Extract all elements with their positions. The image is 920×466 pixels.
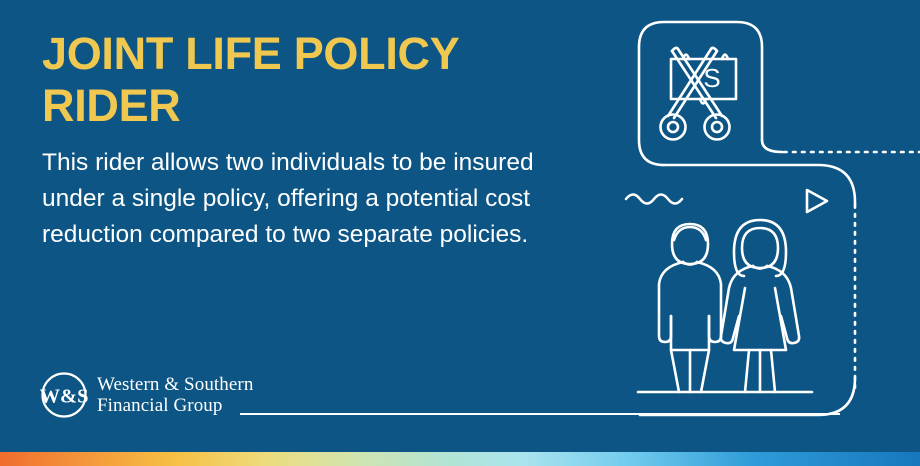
bubble-outline-bottom bbox=[664, 165, 855, 205]
bottom-rail bbox=[640, 378, 855, 415]
female-dress bbox=[734, 288, 786, 350]
bubble-outline-right bbox=[762, 140, 782, 152]
infographic-card: Joint Life Policy Rider This rider allow… bbox=[0, 0, 920, 466]
brand-logo: W&S Western & Southern Financial Group bbox=[40, 371, 253, 419]
male-hair bbox=[674, 227, 706, 240]
female-neck bbox=[753, 266, 767, 269]
female-head bbox=[742, 228, 778, 268]
brand-wordmark: Western & Southern Financial Group bbox=[97, 374, 253, 416]
wavy-line-icon bbox=[626, 195, 682, 204]
description-text: This rider allows two individuals to be … bbox=[42, 145, 537, 253]
male-neck bbox=[683, 262, 697, 265]
female-legs bbox=[745, 350, 775, 392]
play-triangle-icon bbox=[807, 190, 827, 212]
couple-illustration-icon bbox=[638, 220, 812, 392]
line-art-illustration: S bbox=[600, 0, 920, 440]
page-title: Joint Life Policy Rider bbox=[42, 28, 562, 132]
male-head bbox=[672, 224, 708, 264]
svg-text:W&S: W&S bbox=[40, 386, 88, 408]
ws-monogram-icon: W&S bbox=[40, 371, 88, 419]
scissors-cutting-dollar-bill-icon: S bbox=[661, 48, 737, 140]
brand-gradient-bar bbox=[0, 452, 920, 466]
